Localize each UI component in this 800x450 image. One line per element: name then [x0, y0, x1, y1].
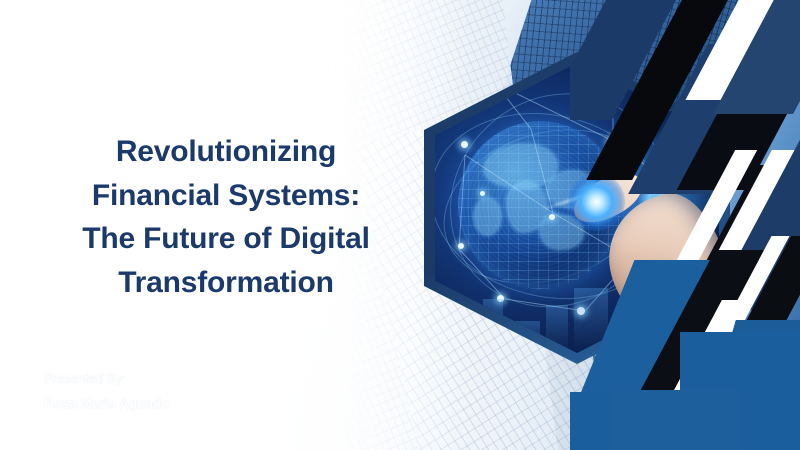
network-node [461, 141, 468, 148]
presenter-block: Presented By: Rosa Maria Aguado [44, 366, 344, 418]
title-line-4: Transformation [36, 261, 416, 305]
title-line-1: Revolutionizing [36, 130, 416, 174]
network-node [458, 243, 464, 249]
blue-corner-block-secondary [610, 390, 740, 450]
title-line-2: Financial Systems: [36, 174, 416, 218]
presentation-slide: Revolutionizing Financial Systems: The F… [0, 0, 800, 450]
title-line-3: The Future of Digital [36, 217, 416, 261]
slide-title: Revolutionizing Financial Systems: The F… [36, 130, 416, 304]
network-node [549, 214, 555, 220]
presenter-name: Rosa Maria Aguado [44, 391, 344, 417]
skyline-building [452, 314, 478, 353]
presented-by-label: Presented By: [44, 366, 344, 391]
